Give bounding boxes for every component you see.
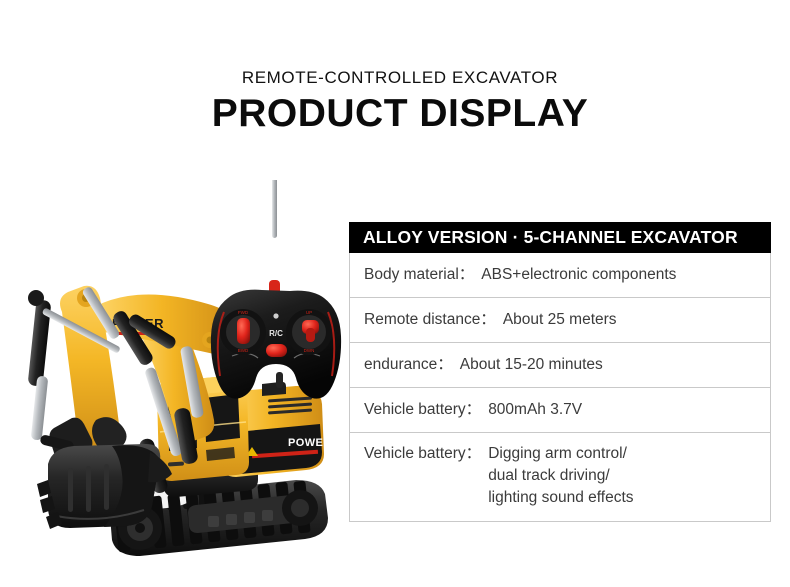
spec-label: Remote distance： — [364, 309, 496, 331]
remote-left-dial-top-label: FWD — [238, 310, 249, 315]
spec-value: ABS+electronic components — [481, 264, 676, 286]
remote-label-text: R/C — [269, 329, 283, 338]
page-subtitle: REMOTE-CONTROLLED EXCAVATOR — [0, 66, 790, 90]
remote-right-dial[interactable]: UP DWN — [286, 309, 332, 355]
remote-led-icon — [273, 313, 278, 318]
page-heading: REMOTE-CONTROLLED EXCAVATOR PRODUCT DISP… — [0, 66, 790, 136]
spec-row: Vehicle battery： Digging arm control/ du… — [350, 433, 770, 521]
remote-antenna — [269, 180, 280, 298]
spec-label: Body material： — [364, 264, 474, 286]
specification-table: ALLOY VERSION · 5-CHANNEL EXCAVATOR Body… — [349, 222, 771, 522]
remote-left-dial[interactable]: FWD BWD — [220, 309, 266, 355]
spec-row: Remote distance： About 25 meters — [350, 298, 770, 343]
spec-table-header: ALLOY VERSION · 5-CHANNEL EXCAVATOR — [349, 222, 771, 253]
excavator-body-logo-text: POWER — [288, 437, 332, 449]
remote-right-dial-bottom-label: DWN — [304, 348, 315, 353]
remote-power-button[interactable] — [266, 344, 287, 357]
spec-value: About 25 meters — [503, 309, 617, 331]
spec-label: Vehicle battery： — [364, 399, 481, 421]
spec-value: 800mAh 3.7V — [488, 399, 582, 421]
spec-row: Vehicle battery： 800mAh 3.7V — [350, 388, 770, 433]
remote-right-dial-top-label: UP — [306, 310, 312, 315]
spec-row: Body material： ABS+electronic components — [350, 253, 770, 298]
remote-control: FWD BWD UP DWN R/C — [211, 180, 341, 399]
remote-left-dial-bottom-label: BWD — [238, 348, 249, 353]
spec-value: About 15-20 minutes — [460, 354, 603, 376]
spec-label: endurance： — [364, 354, 453, 376]
spec-value: Digging arm control/ dual track driving/… — [488, 443, 633, 509]
spec-label: Vehicle battery： — [364, 443, 481, 465]
product-photo: POWER POWER — [0, 180, 345, 570]
page-title: PRODUCT DISPLAY — [0, 91, 790, 136]
spec-row: endurance： About 15-20 minutes — [350, 343, 770, 388]
spec-table-body: Body material： ABS+electronic components… — [349, 253, 771, 522]
excavator-boom: POWER — [60, 286, 236, 450]
